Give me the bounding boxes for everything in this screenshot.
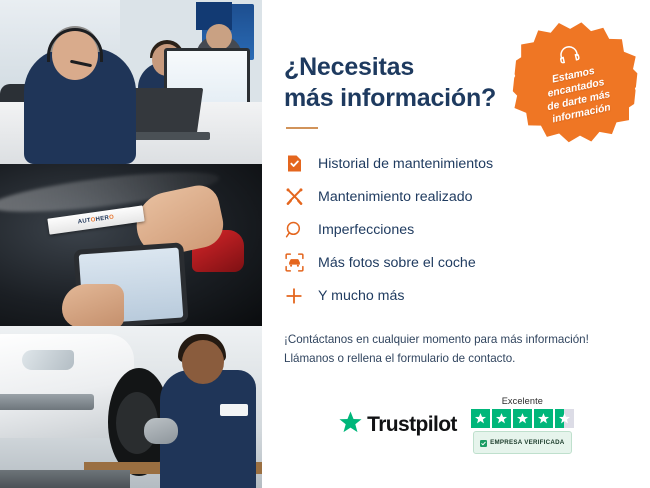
trustpilot-logo[interactable]: Trustpilot [338,410,457,440]
list-item-label: Imperfecciones [318,222,414,238]
car-inspection-ruler-photo: AUTOHERO [0,164,262,326]
list-item: Mantenimiento realizado [284,180,628,213]
trustpilot-rating: Excelente [471,396,574,454]
star-filled [513,409,532,428]
star-half [555,409,574,428]
headline-line-2: más información? [284,84,496,112]
inspector-hand-holding-tablet [62,284,124,326]
uniform-logo [220,404,248,416]
verified-label: EMPRESA VERIFICADA [490,439,564,446]
badge-text: Estamos encantados de darte más informac… [541,62,615,127]
contact-line-2: Llámanos o rellena el formulario de cont… [284,349,628,368]
list-item-label: Mantenimiento realizado [318,189,473,205]
car-grille [0,394,94,410]
trustpilot-wordmark: Trustpilot [367,413,457,437]
title-divider [286,127,318,129]
mechanic-wheel-photo [0,326,262,488]
badge-content: Estamos encantados de darte más informac… [503,11,648,156]
star-filled [534,409,553,428]
star-rating [471,409,574,428]
list-item: Y mucho más [284,279,628,312]
list-item: Historial de mantenimientos [284,147,628,180]
document-check-icon [284,154,304,174]
star-filled [471,409,490,428]
feature-list: Historial de mantenimientos Mantenimient… [284,147,628,312]
contact-line-1: ¡Contáctanos en cualquier momento para m… [284,330,628,349]
contact-text: ¡Contáctanos en cualquier momento para m… [284,330,628,368]
information-banner: AUTOHERO ¿Necesitas más inf [0,0,650,488]
magnifier-icon [284,220,304,240]
list-item: Más fotos sobre el coche [284,246,628,279]
verified-business-badge: EMPRESA VERIFICADA [473,431,571,454]
rating-label: Excelente [502,396,543,406]
status-badge: Estamos encantados de darte más informac… [514,22,636,144]
trustpilot-widget[interactable]: Trustpilot Excelente [284,396,628,454]
car-scan-icon [284,253,304,273]
content-panel: ¿Necesitas más información? Historial de… [262,0,650,488]
call-center-agents-photo [0,0,262,164]
list-item-label: Más fotos sobre el coche [318,255,476,271]
mechanic-head [182,340,224,384]
headline-line-1: ¿Necesitas [284,53,414,81]
list-item-label: Historial de mantenimientos [318,156,493,172]
photo-strip: AUTOHERO [0,0,262,488]
trustpilot-star-icon [338,410,363,440]
car-headlight [22,350,74,370]
star-filled [492,409,511,428]
list-item-label: Y mucho más [318,288,404,304]
mechanic-glove [144,418,178,444]
agent-background-head [206,24,232,50]
plus-icon [284,286,304,306]
car-lift-ramp [0,470,130,488]
tools-cross-icon [284,187,304,207]
autohero-ruler-brand: AUTOHERO [77,214,114,225]
headset-icon [556,43,582,70]
verified-check-icon [480,434,487,452]
list-item: Imperfecciones [284,213,628,246]
